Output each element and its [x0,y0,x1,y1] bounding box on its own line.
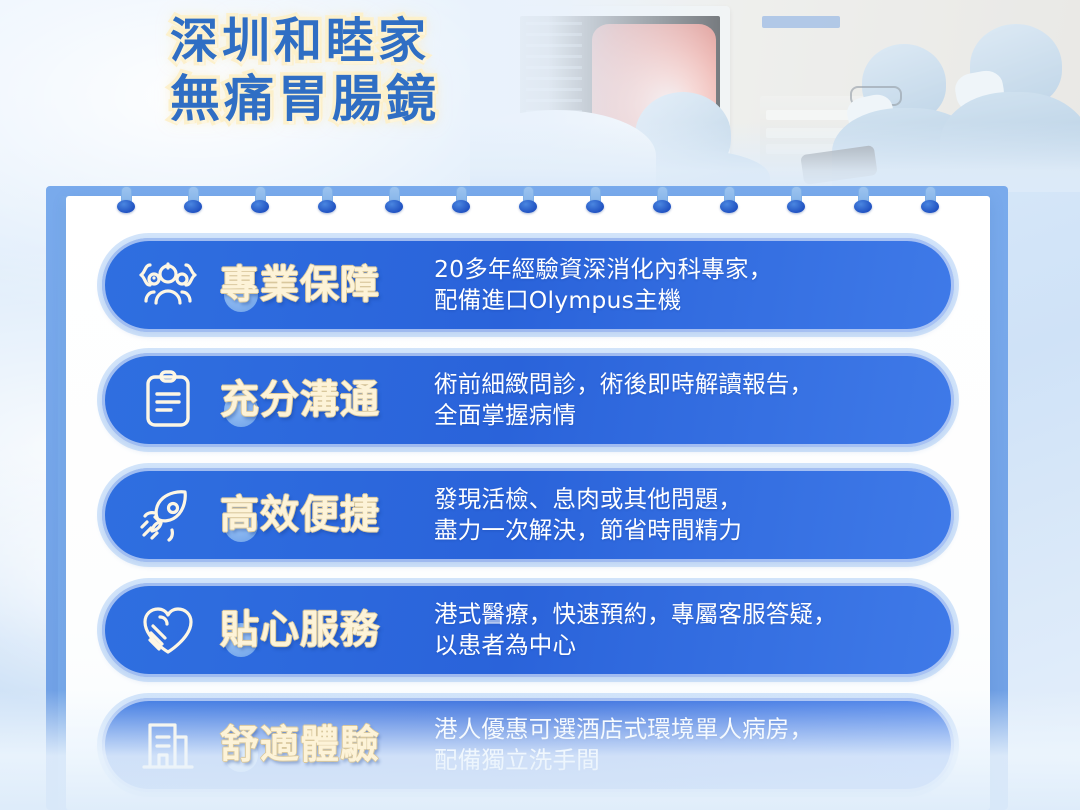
rocket-icon [116,468,220,562]
feature-headline: 貼心服務 [220,611,380,650]
title-line-1: 深圳和睦家 [170,14,440,69]
desc-line-1: 發現活檢、息肉或其他問題， [434,484,924,515]
binding-ring [452,186,470,218]
title-line-2: 無痛胃腸鏡 [170,71,440,128]
binding-ring [653,186,671,218]
hero-scene [470,0,1080,192]
binding-ring [720,186,738,218]
binding-ring-dot [921,200,939,213]
binding-ring [519,186,537,218]
feature-row-efficient[interactable]: 高效便捷 發現活檢、息肉或其他問題， 盡力一次解決，節省時間精力 [102,468,954,562]
binding-ring [586,186,604,218]
binding-ring [318,186,336,218]
binding-ring [787,186,805,218]
feature-description: 港式醫療，快速預約，專屬客服答疑， 以患者為中心 [434,599,954,661]
feature-headline-wrap: 高效便捷 [220,496,434,535]
feature-description: 發現活檢、息肉或其他問題， 盡力一次解決，節省時間精力 [434,484,954,546]
feature-headline-wrap: 充分溝通 [220,381,434,420]
desc-line-2: 全面掌握病情 [434,400,924,431]
desc-line-2: 盡力一次解決，節省時間精力 [434,515,924,546]
binding-ring-dot [385,200,403,213]
feature-headline: 高效便捷 [220,496,380,535]
feature-headline: 舒適體驗 [220,726,380,765]
binding-ring-dot [586,200,604,213]
spiral-binding [66,186,990,220]
feature-headline: 充分溝通 [220,381,380,420]
feature-row-professional[interactable]: 專業保障 20多年經驗資深消化內科專家， 配備進口Olympus主機 [102,238,954,332]
binding-ring [184,186,202,218]
binding-ring [921,186,939,218]
binding-ring-dot [452,200,470,213]
binding-ring [854,186,872,218]
binding-ring [251,186,269,218]
heart-hand-icon [116,583,220,677]
clipboard-icon [116,353,220,447]
feature-description: 20多年經驗資深消化內科專家， 配備進口Olympus主機 [434,254,954,316]
page-title: 深圳和睦家 無痛胃腸鏡 [170,14,440,128]
photo-fade-bottom [470,122,1080,192]
binding-ring-dot [318,200,336,213]
binding-ring-dot [854,200,872,213]
binding-ring-dot [720,200,738,213]
binding-ring-dot [117,200,135,213]
desc-line-1: 港式醫療，快速預約，專屬客服答疑， [434,599,924,630]
feature-row-service[interactable]: 貼心服務 港式醫療，快速預約，專屬客服答疑， 以患者為中心 [102,583,954,677]
desc-line-1: 20多年經驗資深消化內科專家， [434,254,924,285]
feature-headline-wrap: 專業保障 [220,266,434,305]
feature-headline: 專業保障 [220,266,380,305]
desc-line-2: 配備進口Olympus主機 [434,285,924,316]
binding-ring-dot [519,200,537,213]
binding-ring-dot [251,200,269,213]
feature-row-communication[interactable]: 充分溝通 術前細緻問診，術後即時解讀報告， 全面掌握病情 [102,353,954,447]
background-bottom-band [0,690,1080,810]
binding-ring [117,186,135,218]
hero-photo [470,0,1080,192]
binding-ring-dot [653,200,671,213]
feature-headline-wrap: 貼心服務 [220,611,434,650]
desc-line-2: 以患者為中心 [434,630,924,661]
binding-ring [385,186,403,218]
binding-ring-dot [184,200,202,213]
binding-ring-dot [787,200,805,213]
desc-line-1: 術前細緻問診，術後即時解讀報告， [434,369,924,400]
feature-description: 術前細緻問診，術後即時解讀報告， 全面掌握病情 [434,369,954,431]
medical-team-icon [116,238,220,332]
